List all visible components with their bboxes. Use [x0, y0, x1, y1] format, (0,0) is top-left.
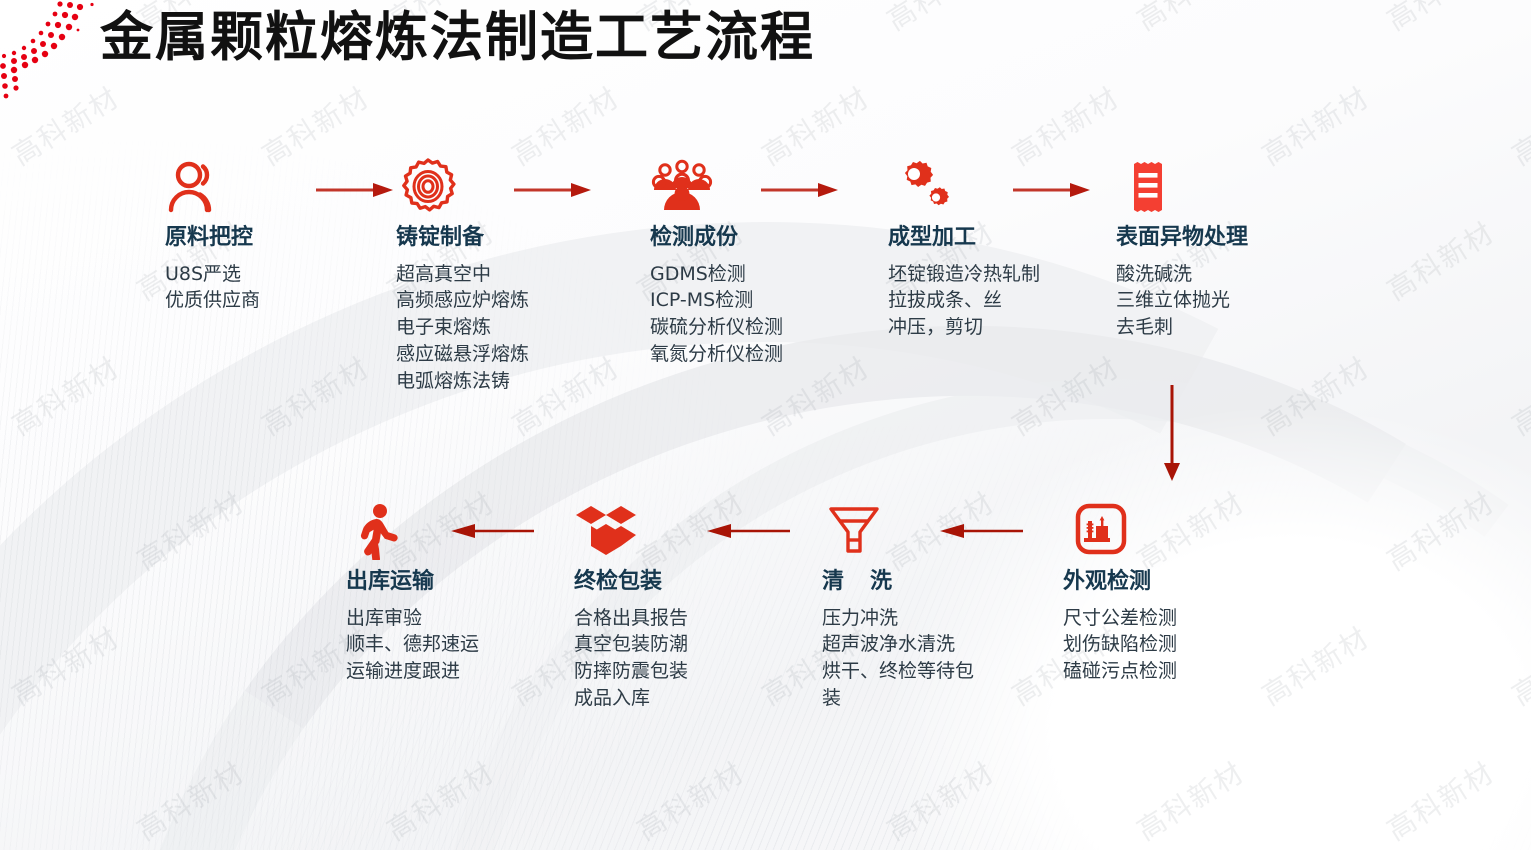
flow-step-cleaning[interactable]: 清洗 压力冲洗 超声波净水清洗 烘干、终检等待包 装: [822, 502, 974, 712]
step-title: 清洗: [822, 568, 974, 596]
flow-connector-arrow-right-2: [513, 180, 591, 200]
step-line: 感应磁悬浮熔炼: [396, 341, 529, 368]
step-line: 高频感应炉熔炼: [396, 287, 529, 314]
step-line: 真空包装防潮: [574, 631, 688, 658]
funnel-icon: [822, 502, 886, 560]
flow-step-surface-foreign-matter-treatment[interactable]: 表面异物处理 酸洗碱洗 三维立体抛光 去毛刺: [1116, 158, 1248, 341]
step-description: 尺寸公差检测 划伤缺陷检测 磕碰污点检测: [1063, 605, 1177, 686]
step-title: 出库运输: [346, 568, 479, 596]
flow-step-appearance-inspection[interactable]: 外观检测 尺寸公差检测 划伤缺陷检测 磕碰污点检测: [1063, 502, 1177, 685]
two-gears-icon: [888, 158, 952, 216]
step-line: 拉拔成条、丝: [888, 287, 1040, 314]
flow-step-raw-material-control[interactable]: 原料把控 U8S严选 优质供应商: [165, 158, 260, 314]
step-line: 冲压，剪切: [888, 314, 1040, 341]
step-title: 原料把控: [165, 224, 260, 252]
step-line: 防摔防震包装: [574, 658, 688, 685]
step-title: 外观检测: [1063, 568, 1177, 596]
flow-step-final-inspection-packaging[interactable]: 终检包装 合格出具报告 真空包装防潮 防摔防震包装 成品入库: [574, 502, 688, 712]
step-title: 终检包装: [574, 568, 688, 596]
step-line: 优质供应商: [165, 287, 260, 314]
step-line: 运输进度跟进: [346, 658, 479, 685]
step-line: GDMS检测: [650, 261, 783, 288]
step-line: 坯锭锻造冷热轧制: [888, 261, 1040, 288]
step-line: 尺寸公差检测: [1063, 605, 1177, 632]
open-box-icon: [574, 502, 638, 560]
step-line: 磕碰污点检测: [1063, 658, 1177, 685]
step-line: 三维立体抛光: [1116, 287, 1248, 314]
step-line: 去毛刺: [1116, 314, 1248, 341]
flow-step-outbound-transport[interactable]: 出库运输 出库审验 顺丰、德邦速运 运输进度跟进: [346, 502, 479, 685]
step-line: 氧氮分析仪检测: [650, 341, 783, 368]
step-line: ICP-MS检测: [650, 287, 783, 314]
step-line: 划伤缺陷检测: [1063, 631, 1177, 658]
step-line: 电子束熔炼: [396, 314, 529, 341]
step-line: U8S严选: [165, 261, 260, 288]
step-description: 酸洗碱洗 三维立体抛光 去毛刺: [1116, 261, 1248, 342]
step-line: 超声波净水清洗: [822, 631, 974, 658]
step-line: 烘干、终检等待包: [822, 658, 974, 685]
step-line: 装: [822, 685, 974, 712]
flow-step-ingot-preparation[interactable]: 铸锭制备 超高真空中 高频感应炉熔炼 电子束熔炼 感应磁悬浮熔炼 电弧熔炼法铸: [396, 158, 529, 395]
flow-connector-arrow-down: [1158, 385, 1186, 483]
receipt-icon: [1116, 158, 1180, 216]
two-people-icon: [165, 158, 229, 216]
gear-target-icon: [396, 158, 460, 216]
step-line: 合格出具报告: [574, 605, 688, 632]
step-description: 出库审验 顺丰、德邦速运 运输进度跟进: [346, 605, 479, 686]
step-title: 检测成份: [650, 224, 783, 252]
step-line: 出库审验: [346, 605, 479, 632]
flow-connector-arrow-right-1: [315, 180, 393, 200]
factory-badge-icon: [1063, 502, 1127, 560]
step-line: 碳硫分析仪检测: [650, 314, 783, 341]
step-description: 合格出具报告 真空包装防潮 防摔防震包装 成品入库: [574, 605, 688, 713]
step-description: GDMS检测 ICP-MS检测 碳硫分析仪检测 氧氮分析仪检测: [650, 261, 783, 369]
people-group-icon: [650, 158, 714, 216]
step-description: 坯锭锻造冷热轧制 拉拔成条、丝 冲压，剪切: [888, 261, 1040, 342]
flow-connector-arrow-right-3: [760, 180, 838, 200]
walking-person-icon: [346, 502, 410, 560]
process-flow-diagram: 原料把控 U8S严选 优质供应商 铸锭制备 超高真空中 高频感应炉熔炼 电子束熔…: [0, 0, 1531, 850]
step-line: 成品入库: [574, 685, 688, 712]
step-line: 超高真空中: [396, 261, 529, 288]
step-line: 压力冲洗: [822, 605, 974, 632]
step-line: 酸洗碱洗: [1116, 261, 1248, 288]
step-title: 表面异物处理: [1116, 224, 1248, 252]
step-description: 压力冲洗 超声波净水清洗 烘干、终检等待包 装: [822, 605, 974, 713]
step-description: U8S严选 优质供应商: [165, 261, 260, 315]
step-line: 电弧熔炼法铸: [396, 368, 529, 395]
step-description: 超高真空中 高频感应炉熔炼 电子束熔炼 感应磁悬浮熔炼 电弧熔炼法铸: [396, 261, 529, 396]
page-title: 金属颗粒熔炼法制造工艺流程: [100, 6, 815, 70]
step-line: 顺丰、德邦速运: [346, 631, 479, 658]
flow-connector-arrow-left-2: [705, 521, 790, 541]
step-title: 成型加工: [888, 224, 1040, 252]
flow-connector-arrow-right-4: [1012, 180, 1090, 200]
step-title: 铸锭制备: [396, 224, 529, 252]
